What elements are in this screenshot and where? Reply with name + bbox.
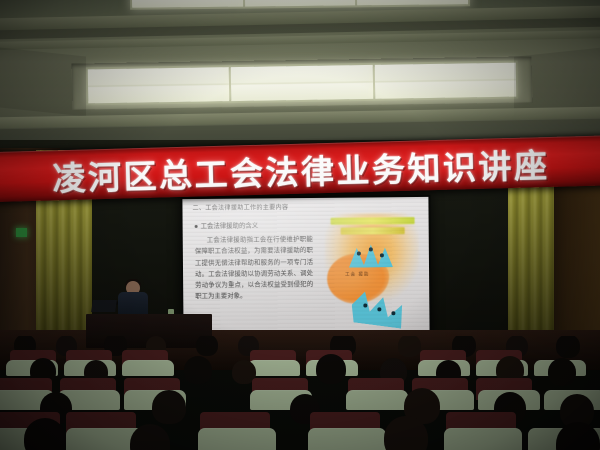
slide-text-block: 工会法律援助的含义 工会法律援助指工会在行使维护职能保障职工合法权益，为需要法律… bbox=[195, 220, 314, 302]
audience-head bbox=[398, 336, 421, 357]
seat bbox=[444, 428, 522, 450]
light-cell bbox=[231, 65, 373, 101]
audience-area bbox=[0, 336, 600, 450]
graphic-label: 工会 援助 bbox=[345, 271, 369, 277]
seat bbox=[122, 360, 174, 376]
projection-screen-frame: 二、工会法律援助工作的主要内容 工会法律援助的含义 工会法律援助指工会在行使维护… bbox=[180, 195, 431, 339]
graphic-node-icon bbox=[377, 307, 381, 311]
graphic-node-icon bbox=[357, 252, 361, 256]
seat bbox=[198, 428, 276, 450]
slide-bullet-item: 工会法律援助的含义 bbox=[195, 220, 313, 232]
light-cell bbox=[88, 67, 230, 103]
graphic-node-icon bbox=[380, 253, 384, 257]
slide-bullet-label: 工会法律援助的含义 bbox=[201, 220, 259, 232]
audience-head bbox=[556, 336, 580, 358]
light-cell bbox=[357, 0, 468, 5]
slide-graphic: 工会 援助 bbox=[323, 211, 422, 330]
audience-head bbox=[196, 336, 218, 356]
graphic-node-icon bbox=[369, 247, 373, 251]
light-cell bbox=[374, 63, 516, 99]
audience-head bbox=[130, 424, 170, 450]
audience-head bbox=[152, 390, 186, 424]
slide-paragraph: 工会法律援助指工会在行使维护职能保障职工合法权益，为需要法律援助的职工提供无偿法… bbox=[195, 234, 314, 302]
lecture-hall-photo: 二、工会法律援助工作的主要内容 工会法律援助的含义 工会法律援助指工会在行使维护… bbox=[0, 0, 600, 450]
bullet-dot-icon bbox=[195, 224, 198, 227]
graphic-node-icon bbox=[391, 311, 395, 315]
audience-head bbox=[184, 356, 212, 384]
exit-sign-icon bbox=[16, 228, 27, 237]
ceiling bbox=[0, 0, 600, 148]
laptop-icon bbox=[91, 300, 117, 312]
ceiling-light-panel-upper bbox=[130, 0, 470, 10]
graphic-subtitle-bar bbox=[341, 227, 405, 235]
light-cell bbox=[132, 0, 243, 8]
audience-head bbox=[556, 422, 600, 450]
ceiling-light-panel-main bbox=[86, 61, 519, 106]
light-cell bbox=[245, 0, 356, 7]
seat bbox=[308, 428, 386, 450]
projection-screen: 二、工会法律援助工作的主要内容 工会法律援助的含义 工会法律援助指工会在行使维护… bbox=[182, 197, 429, 337]
audience-head bbox=[548, 358, 576, 386]
graphic-title-bar bbox=[331, 217, 415, 225]
graphic-node-icon bbox=[363, 303, 367, 307]
seat bbox=[346, 390, 408, 410]
ceiling-coffer-left bbox=[0, 47, 86, 116]
audience-head bbox=[316, 354, 346, 384]
